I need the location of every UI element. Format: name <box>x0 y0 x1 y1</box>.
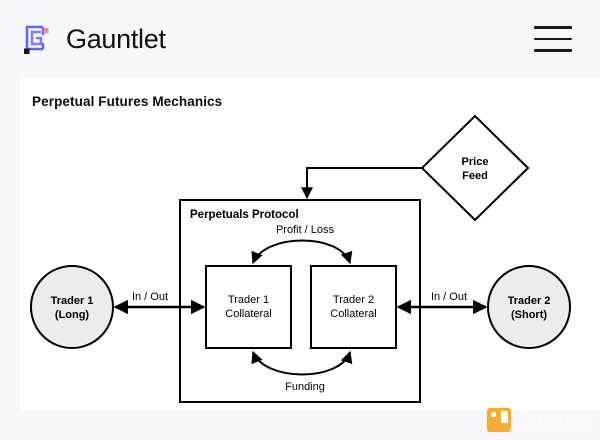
left-in-out-label: In / Out <box>132 291 168 303</box>
funding-label: Funding <box>285 381 325 393</box>
trader-1-collateral-label-line2: Collateral <box>225 308 271 320</box>
menu-line-2 <box>534 38 572 41</box>
menu-line-3 <box>534 49 572 52</box>
trader-1-label-line1: Trader 1 <box>51 295 94 307</box>
jinse-finance-logo-icon <box>487 408 511 432</box>
trader-2-circle <box>488 266 570 348</box>
app-header: Gauntlet <box>0 0 600 78</box>
hamburger-menu-icon[interactable] <box>534 26 572 52</box>
protocol-box-label: Perpetuals Protocol <box>190 209 299 221</box>
perpetual-futures-diagram: Price Feed Perpetuals Protocol Trader 1 … <box>20 78 600 410</box>
diagram-card: Perpetual Futures Mechanics Price Feed P… <box>20 78 600 410</box>
price-feed-diamond <box>422 116 528 220</box>
brand-name: Gauntlet <box>66 26 166 53</box>
trader-1-node: Trader 1 (Long) <box>31 266 113 348</box>
trader-1-collateral-node: Trader 1 Collateral <box>206 266 291 348</box>
price-feed-to-protocol-arrow <box>307 168 422 198</box>
trader-2-collateral-node: Trader 2 Collateral <box>311 266 396 348</box>
trader-2-collateral-label-line2: Collateral <box>330 308 376 320</box>
price-feed-label-line2: Feed <box>462 170 488 182</box>
trader-1-circle <box>31 266 113 348</box>
trader-1-collateral-rect <box>206 266 291 348</box>
trader-2-collateral-label-line1: Trader 2 <box>333 294 374 306</box>
trader-2-label-line1: Trader 2 <box>508 295 551 307</box>
price-feed-node: Price Feed <box>422 116 528 220</box>
profit-loss-label: Profit / Loss <box>276 224 335 236</box>
trader-1-label-line2: (Long) <box>55 309 90 321</box>
watermark: 金色财经 <box>487 407 590 432</box>
right-in-out-label: In / Out <box>431 291 467 303</box>
watermark-text: 金色财经 <box>518 407 590 432</box>
trader-2-node: Trader 2 (Short) <box>488 266 570 348</box>
trader-2-label-line2: (Short) <box>511 309 547 321</box>
trader-1-collateral-label-line1: Trader 1 <box>228 294 269 306</box>
brand[interactable]: Gauntlet <box>22 23 166 55</box>
menu-line-1 <box>534 26 572 29</box>
gauntlet-g-logo-icon <box>22 23 52 55</box>
trader-2-collateral-rect <box>311 266 396 348</box>
price-feed-label-line1: Price <box>462 156 489 168</box>
